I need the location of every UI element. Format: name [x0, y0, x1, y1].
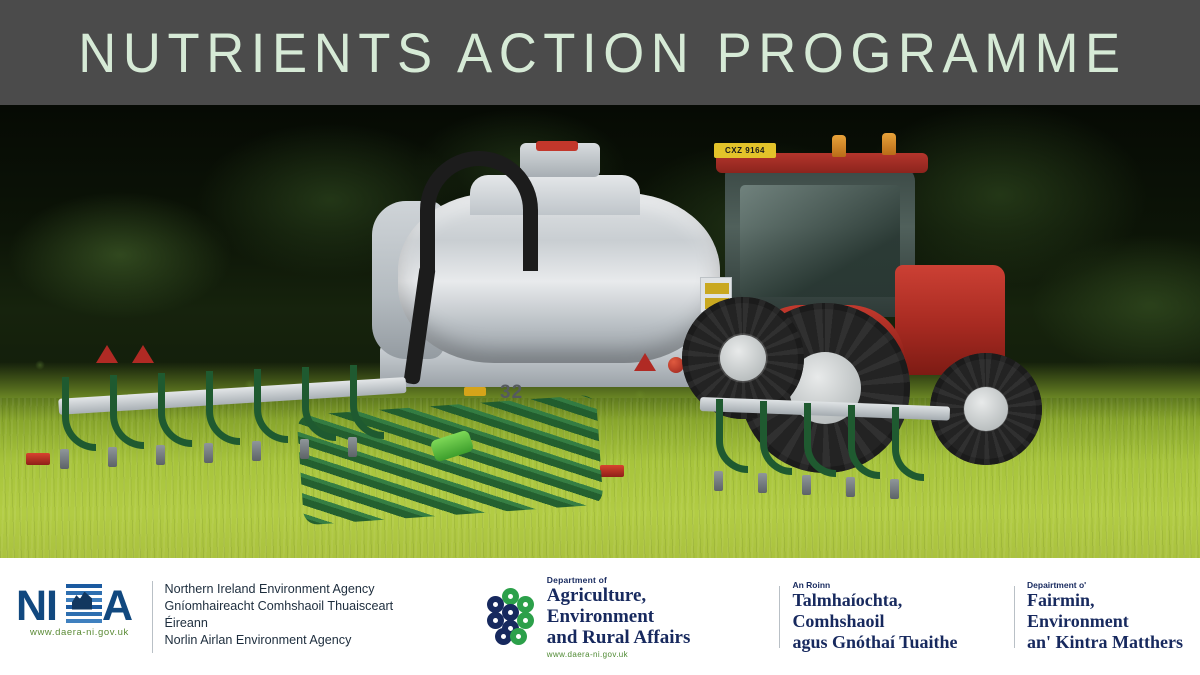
daera-english-line2: and Rural Affairs — [547, 627, 758, 648]
hose-outlet-tip — [300, 439, 309, 459]
niea-name-scots: Norlin Airlan Environment Agency — [165, 632, 440, 649]
daera-english-line1: Agriculture, Environment — [547, 585, 758, 627]
tanker-suction-arm — [420, 151, 538, 271]
niea-divider — [152, 581, 153, 653]
niea-name-english: Northern Ireland Environment Agency — [165, 581, 440, 598]
tractor-cab-glass — [740, 185, 900, 297]
daera-logo-irish[interactable]: An Roinn Talmhaíochta, Comhshaoil agus G… — [779, 580, 998, 654]
hose-outlet-tip — [204, 443, 213, 463]
footer-logo-bar: NI A www.daera-ni.gov.uk Northern Irelan… — [0, 558, 1200, 675]
reflector-lamp-rear-left — [26, 453, 50, 465]
daera-logo-ulster-scots[interactable]: Depairtment o' Fairmin, Environment an' … — [1014, 580, 1200, 654]
daera-scots-sub: Depairtment o' — [1027, 580, 1200, 590]
daera-irish-sub: An Roinn — [792, 580, 998, 590]
page-title: NUTRIENTS ACTION PROGRAMME — [73, 25, 1127, 81]
hose-outlet-tip — [348, 437, 357, 457]
niea-name-irish: Gníomhaireacht Comhshaoil Thuaisceart Éi… — [165, 598, 440, 632]
niea-website-url[interactable]: www.daera-ni.gov.uk — [30, 627, 129, 638]
hose-outlet-tip — [156, 445, 165, 465]
reflector-lamp-rear-right — [600, 465, 624, 477]
reflector-triangle-right — [634, 353, 656, 371]
tractor-number-plate: CXZ 9164 — [714, 143, 776, 158]
hose-outlet-tip — [802, 475, 811, 495]
hero-photo: CXZ 9164 32 — [0, 105, 1200, 558]
hose-outlet-tip — [60, 449, 69, 469]
tanker-pto-guard — [536, 141, 578, 151]
hose-outlet-tip — [714, 471, 723, 491]
hose-outlet-tip — [252, 441, 261, 461]
hose-outlet-tip — [108, 447, 117, 467]
niea-logo-mark: NI A www.daera-ni.gov.uk — [14, 581, 142, 641]
hose-outlet-tip — [890, 479, 899, 499]
daera-logo-english[interactable]: Department of Agriculture, Environment a… — [487, 581, 757, 653]
beacon-light-left — [832, 135, 846, 157]
daera-flax-icon — [487, 588, 537, 646]
hose-bundle — [297, 395, 604, 526]
daera-scots-text: Depairtment o' Fairmin, Environment an' … — [1015, 580, 1200, 653]
tanker-amber-marker — [464, 387, 486, 396]
reflector-triangle-left — [96, 345, 118, 363]
daera-english-sub: Department of — [547, 575, 758, 585]
daera-irish-text: An Roinn Talmhaíochta, Comhshaoil agus G… — [780, 580, 998, 653]
niea-landscape-icon — [66, 584, 102, 626]
daera-scots-line2: an' Kintra Matthers — [1027, 632, 1200, 653]
page-root: NUTRIENTS ACTION PROGRAMME CXZ 9164 — [0, 0, 1200, 675]
hose-outlet-tip — [758, 473, 767, 493]
niea-agency-names: Northern Ireland Environment Agency Gnío… — [163, 581, 440, 649]
daera-website-url[interactable]: www.daera-ni.gov.uk — [547, 650, 758, 659]
daera-irish-line1: Talmhaíochta, Comhshaoil — [792, 590, 998, 632]
beacon-light-right — [882, 133, 896, 155]
header-banner: NUTRIENTS ACTION PROGRAMME — [0, 0, 1200, 105]
niea-logo-letters-ni: NI — [16, 583, 57, 629]
hose-outlet-tip — [846, 477, 855, 497]
daera-scots-line1: Fairmin, Environment — [1027, 590, 1200, 632]
daera-english-text: Department of Agriculture, Environment a… — [547, 575, 758, 659]
reflector-triangle-left-2 — [132, 345, 154, 363]
niea-logo[interactable]: NI A www.daera-ni.gov.uk Northern Irelan… — [14, 581, 439, 653]
niea-logo-letters-a: A — [102, 583, 132, 629]
daera-irish-line2: agus Gnóthaí Tuaithe — [792, 632, 998, 653]
